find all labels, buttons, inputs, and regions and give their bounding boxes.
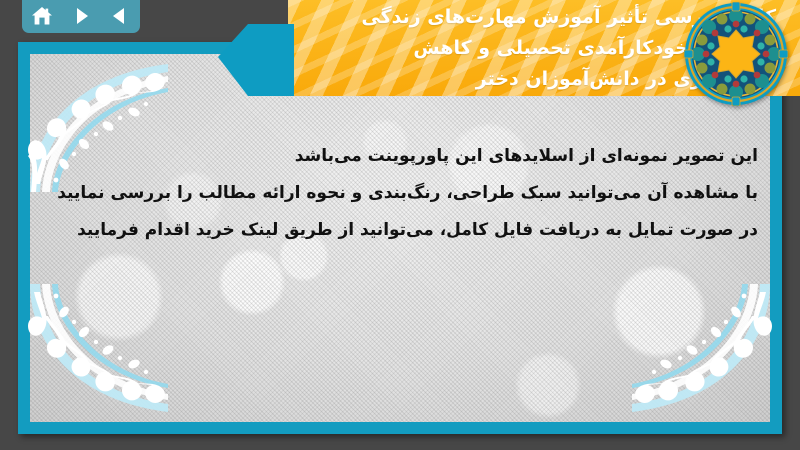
slide-preview-stage: این تصویر نمونه‌ای از اسلایدهای این پاور… (0, 0, 800, 450)
body-line: در صورت تمایل به دریافت فایل کامل، می‌تو… (58, 212, 758, 249)
body-line: با مشاهده آن می‌توانید سبک طراحی، رنگ‌بن… (58, 175, 758, 212)
home-button[interactable] (27, 3, 57, 29)
previous-slide-button[interactable] (105, 3, 135, 29)
body-line: این تصویر نمونه‌ای از اسلایدهای این پاور… (58, 138, 758, 175)
banner-arrow-tab (218, 24, 294, 96)
persian-medallion-ornament (684, 2, 788, 106)
slide-body-text: این تصویر نمونه‌ای از اسلایدهای این پاور… (58, 138, 758, 249)
navigation-toolbar[interactable] (22, 0, 140, 33)
next-slide-button[interactable] (66, 3, 96, 29)
